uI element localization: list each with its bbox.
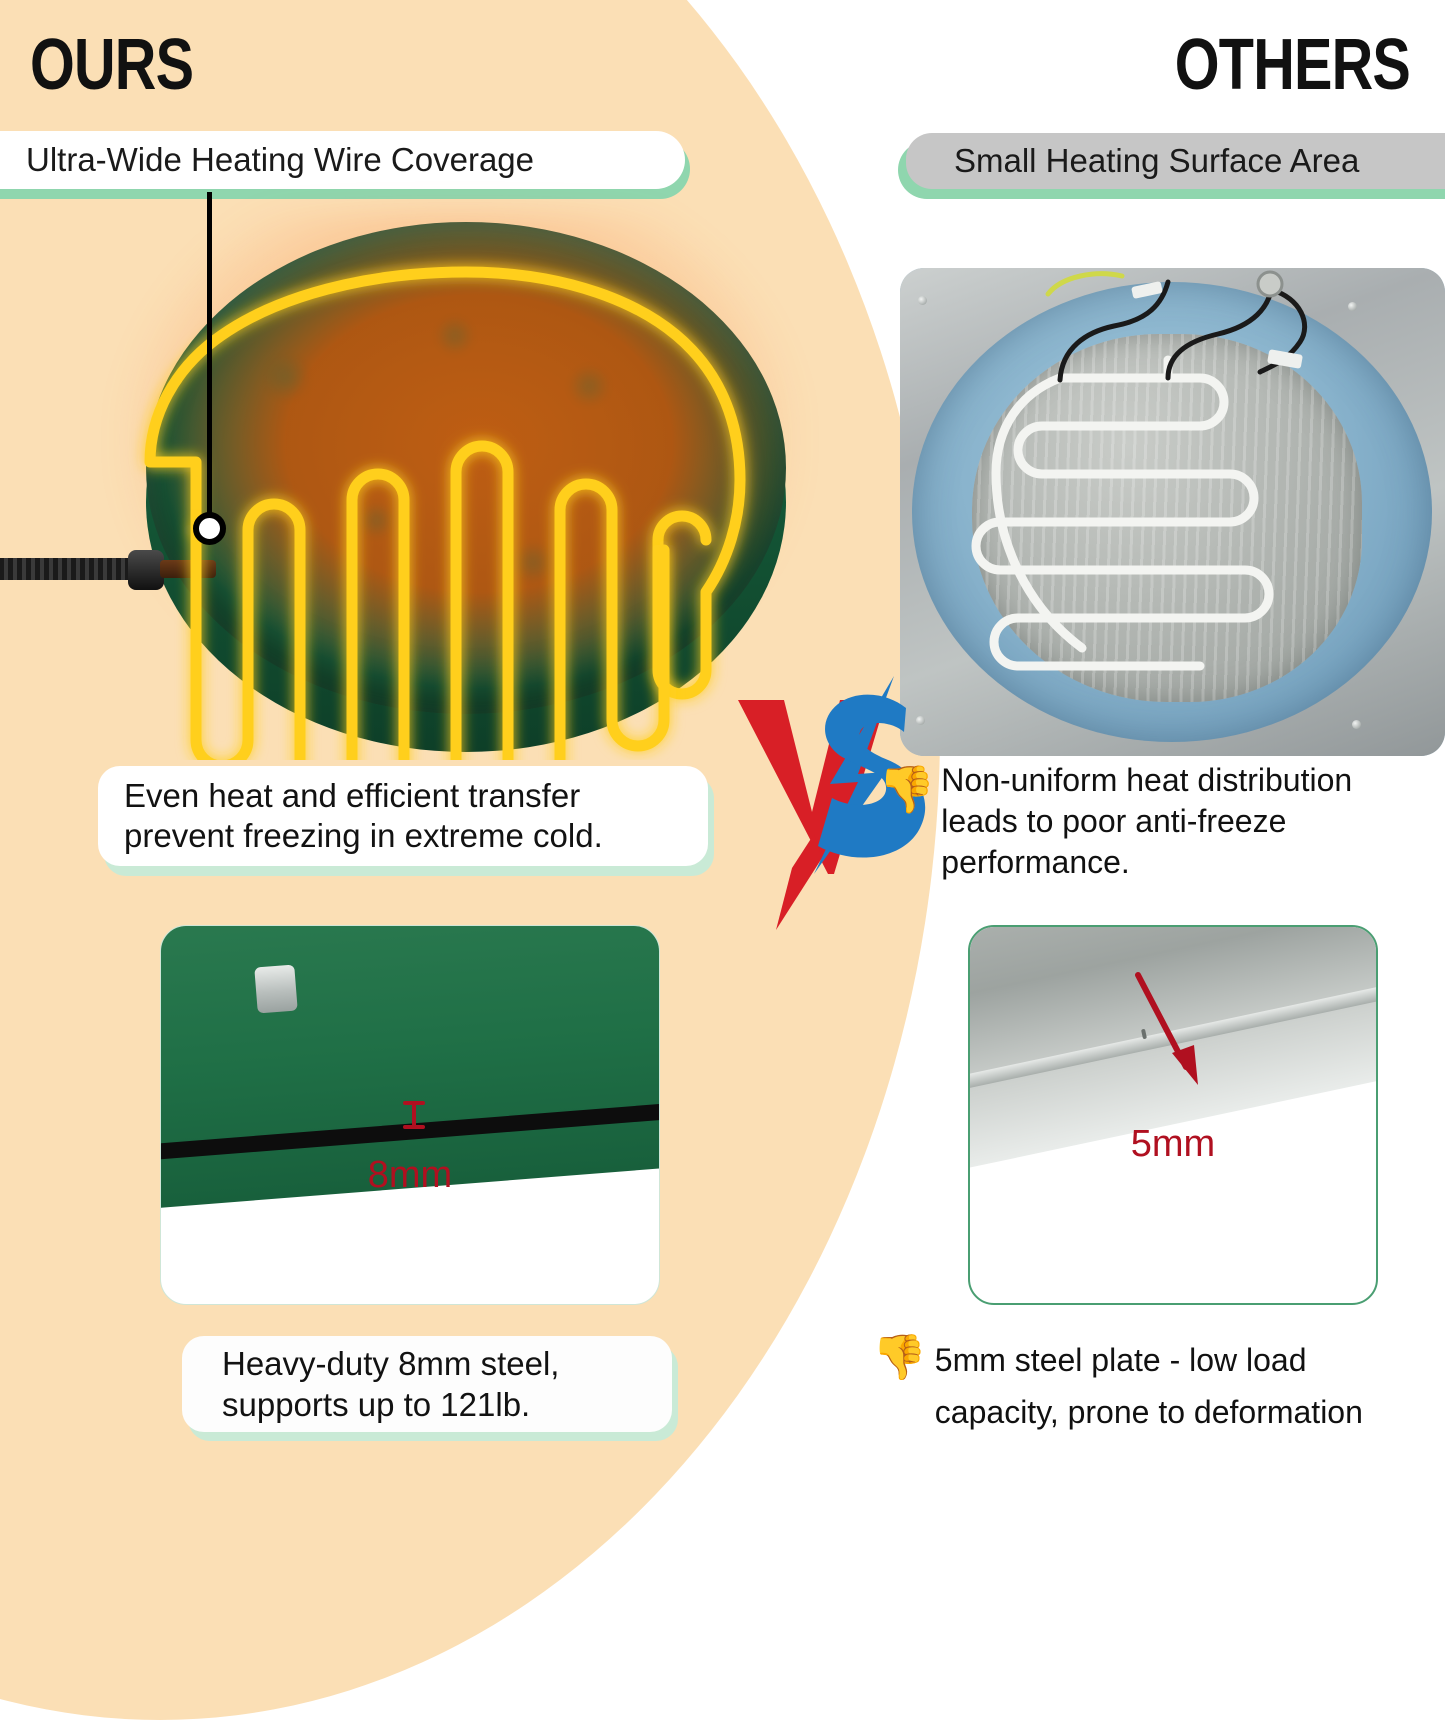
competitor-wiring (900, 268, 1445, 756)
plate-bolt (254, 965, 297, 1014)
ours-thickness-label: 8mm (161, 1154, 659, 1197)
caption-right-line3: performance. (941, 842, 1352, 883)
banner-left-label: Ultra-Wide Heating Wire Coverage (26, 141, 534, 179)
others-heater-image (900, 268, 1445, 756)
banner-right: Small Heating Surface Area (906, 133, 1445, 189)
callout-dot (193, 512, 226, 545)
rim-screw (918, 296, 927, 305)
caption-left-line1: Even heat and efficient transfer (124, 776, 708, 816)
bottom-left-line1: Heavy-duty 8mm steel, (222, 1343, 672, 1384)
header-ours: OURS (30, 24, 193, 106)
banner-right-label: Small Heating Surface Area (954, 142, 1359, 180)
caption-left: Even heat and efficient transfer prevent… (98, 766, 708, 866)
callout-leader-line (207, 192, 212, 522)
caption-right-line1: Non-uniform heat distribution (941, 760, 1352, 801)
header-others: OTHERS (1175, 24, 1410, 106)
caption-right-text: Non-uniform heat distribution leads to p… (941, 760, 1352, 883)
rim-screw (1352, 720, 1361, 729)
bottom-caption-right: 👎 5mm steel plate - low load capacity, p… (872, 1334, 1445, 1439)
heating-wire-overlay (0, 200, 840, 760)
bottom-left-line2: supports up to 121lb. (222, 1384, 672, 1425)
caption-right-line2: leads to poor anti-freeze (941, 801, 1352, 842)
thickness-arrow-icon (1120, 957, 1240, 1107)
rim-screw (1348, 302, 1357, 311)
others-thickness-image: 5mm (968, 925, 1378, 1305)
thumbs-down-icon: 👎 (872, 1336, 927, 1380)
bottom-right-line1: 5mm steel plate - low load (935, 1334, 1363, 1386)
thickness-marker-icon (399, 1098, 429, 1132)
caption-left-line2: prevent freezing in extreme cold. (124, 816, 708, 856)
bottom-right-text: 5mm steel plate - low load capacity, pro… (935, 1334, 1363, 1438)
others-thickness-label: 5mm (970, 1123, 1376, 1166)
caption-right: 👎 Non-uniform heat distribution leads to… (878, 760, 1445, 890)
ours-thickness-image: 8mm (160, 925, 660, 1305)
thumbs-down-icon: 👎 (878, 766, 935, 812)
banner-left: Ultra-Wide Heating Wire Coverage (0, 131, 685, 189)
bottom-caption-left: Heavy-duty 8mm steel, supports up to 121… (182, 1336, 672, 1432)
infographic-stage: OURS OTHERS Ultra-Wide Heating Wire Cove… (0, 0, 1445, 1445)
bottom-right-line2: capacity, prone to deformation (935, 1386, 1363, 1438)
ours-heater-image (0, 200, 840, 760)
